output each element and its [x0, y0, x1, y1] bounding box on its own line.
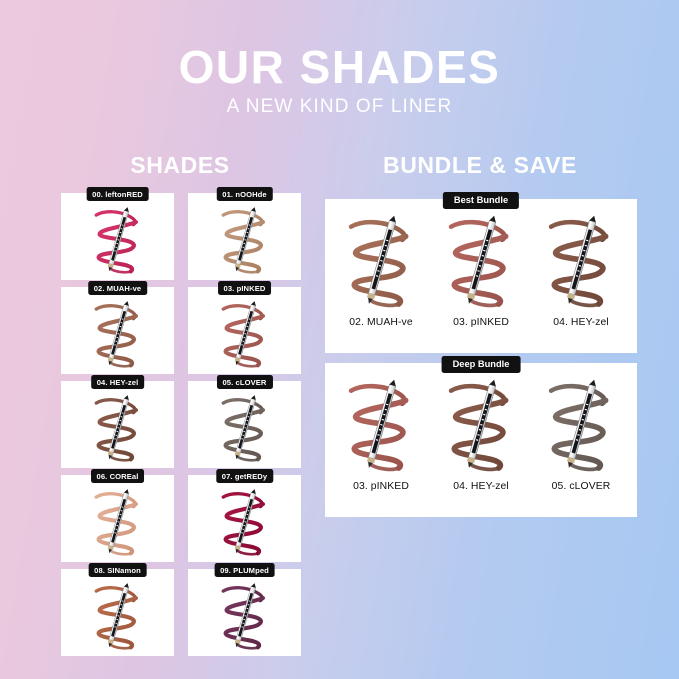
shades-grid: 00. leftonRED [61, 193, 301, 656]
bundle-item[interactable]: 05. cLOVER [531, 373, 631, 511]
bundle-swatch [437, 373, 525, 477]
shade-swatch-art [537, 209, 625, 313]
shade-label-badge: 08. SINamon [88, 563, 147, 577]
bundle-item-label: 04. HEY-zel [453, 481, 509, 492]
bundle-badge: Deep Bundle [442, 356, 521, 373]
bundle-item[interactable]: 04. HEY-zel [431, 373, 531, 511]
shade-label-badge: 04. HEY-zel [91, 375, 145, 389]
shade-swatch-art [213, 578, 277, 654]
shade-swatch [188, 193, 301, 280]
shade-swatch-art [437, 209, 525, 313]
shade-label-badge: 00. leftonRED [86, 187, 149, 201]
bundle-item-label: 02. MUAH-ve [349, 317, 412, 328]
shade-label-badge: 03. pINKED [218, 281, 272, 295]
shade-card[interactable]: 03. pINKED [188, 287, 301, 374]
shade-label-badge: 01. nOOHde [216, 187, 272, 201]
shade-swatch [188, 381, 301, 468]
shade-card[interactable]: 06. COREal [61, 475, 174, 562]
shade-swatch [61, 475, 174, 562]
shade-card[interactable]: 00. leftonRED [61, 193, 174, 280]
page-subtitle: A NEW KIND OF LINER [0, 96, 679, 118]
bundles-section-title: BUNDLE & SAVE [324, 152, 636, 179]
shade-card[interactable]: 02. MUAH-ve [61, 287, 174, 374]
shade-swatch [188, 287, 301, 374]
shade-label-badge: 06. COREal [91, 469, 145, 483]
shade-card[interactable]: 05. cLOVER [188, 381, 301, 468]
bundle-item-label: 03. pINKED [353, 481, 409, 492]
bundle-item[interactable]: 02. MUAH-ve [331, 209, 431, 347]
shade-label-badge: 07. getREDy [216, 469, 273, 483]
shade-swatch-art [337, 209, 425, 313]
shade-card[interactable]: 04. HEY-zel [61, 381, 174, 468]
shade-card[interactable]: 08. SINamon [61, 569, 174, 656]
shade-swatch [61, 287, 174, 374]
shades-section-title: SHADES [56, 152, 304, 179]
shade-swatch-art [213, 484, 277, 560]
shade-swatch-art [86, 484, 150, 560]
shade-swatch [61, 193, 174, 280]
shade-swatch [61, 381, 174, 468]
bundle-panel-deep[interactable]: Deep Bundle [325, 363, 637, 517]
page-header: OUR SHADES A NEW KIND OF LINER [0, 44, 679, 118]
shade-card[interactable]: 09. PLUMped [188, 569, 301, 656]
shade-swatch-art [86, 296, 150, 372]
shade-swatch-art [537, 373, 625, 477]
shade-swatch-art [437, 373, 525, 477]
shade-swatch-art [86, 578, 150, 654]
shade-swatch [61, 569, 174, 656]
shade-label-badge: 02. MUAH-ve [88, 281, 148, 295]
bundle-swatch [537, 373, 625, 477]
shade-swatch-art [213, 390, 277, 466]
shade-label-badge: 05. cLOVER [216, 375, 272, 389]
shade-swatch [188, 569, 301, 656]
shade-swatch-art [213, 296, 277, 372]
bundle-items-row: 03. pINKED [331, 373, 631, 511]
shade-swatch [188, 475, 301, 562]
shade-swatch-art [86, 202, 150, 278]
shade-swatch-art [86, 390, 150, 466]
bundle-swatch [337, 373, 425, 477]
shade-swatch-art [213, 202, 277, 278]
bundle-swatch [437, 209, 525, 313]
bundle-item-label: 04. HEY-zel [553, 317, 609, 328]
bundle-item-label: 03. pINKED [453, 317, 509, 328]
shade-label-badge: 09. PLUMped [214, 563, 275, 577]
shade-card[interactable]: 07. getREDy [188, 475, 301, 562]
bundle-item[interactable]: 03. pINKED [431, 209, 531, 347]
shade-card[interactable]: 01. nOOHde [188, 193, 301, 280]
bundle-swatch [537, 209, 625, 313]
bundle-swatch [337, 209, 425, 313]
bundle-items-row: 02. MUAH-ve [331, 209, 631, 347]
page-title: OUR SHADES [0, 44, 679, 91]
bundle-item[interactable]: 03. pINKED [331, 373, 431, 511]
bundle-item-label: 05. cLOVER [552, 481, 611, 492]
shade-swatch-art [337, 373, 425, 477]
bundle-item[interactable]: 04. HEY-zel [531, 209, 631, 347]
bundle-badge: Best Bundle [443, 192, 519, 209]
bundle-panel-best[interactable]: Best Bundle [325, 199, 637, 353]
